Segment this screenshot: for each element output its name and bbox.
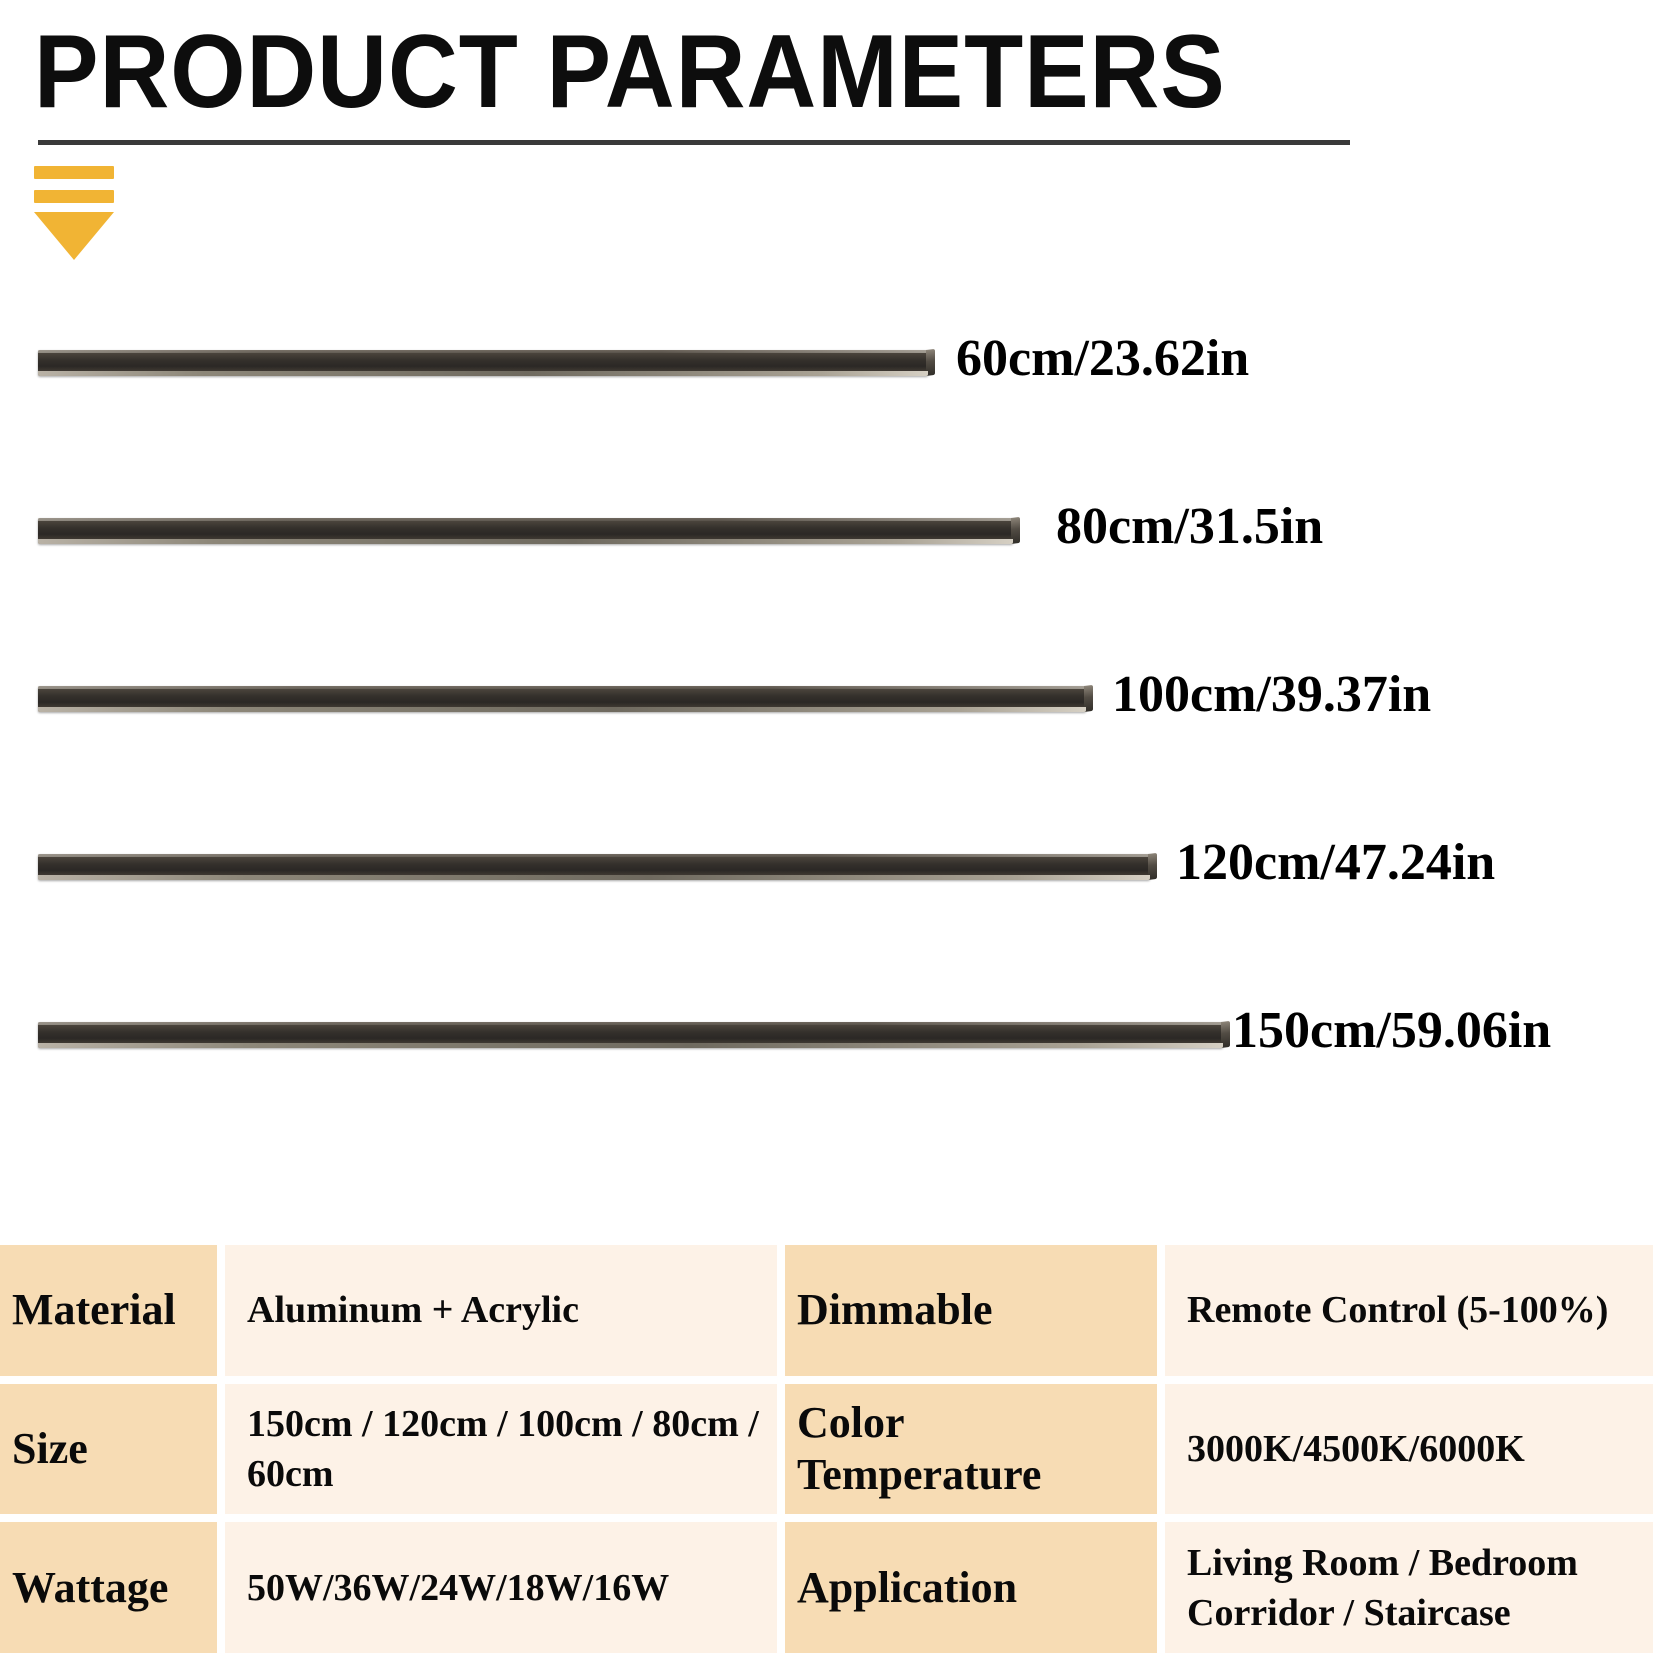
size-comparison-diagram: 60cm/23.62in 80cm/31.5in 100cm/39.37in 1… — [0, 300, 1653, 1230]
spec-value-color-temperature: 3000K/4500K/6000K — [1165, 1384, 1653, 1515]
bar-end-cap — [1221, 1021, 1230, 1048]
down-arrow-icon — [34, 166, 126, 256]
size-label: 150cm/59.06in — [1232, 1000, 1551, 1062]
led-bar-graphic — [38, 518, 1013, 544]
page-header: PRODUCT PARAMETERS — [0, 0, 1653, 290]
size-row: 120cm/47.24in — [0, 804, 1653, 974]
arrow-triangle — [34, 212, 114, 260]
title-divider — [38, 140, 1350, 145]
spec-value-size: 150cm / 120cm / 100cm / 80cm / 60cm — [225, 1384, 777, 1515]
table-row: Size 150cm / 120cm / 100cm / 80cm / 60cm… — [0, 1384, 1653, 1515]
spec-key-wattage: Wattage — [0, 1522, 217, 1653]
led-bar-graphic — [38, 686, 1086, 712]
led-bar-graphic — [38, 1022, 1223, 1048]
spec-value-application-line-1: Living Room / Bedroom — [1187, 1538, 1578, 1588]
spec-key-size: Size — [0, 1384, 217, 1515]
spec-key-material: Material — [0, 1245, 217, 1376]
size-label: 80cm/31.5in — [1056, 496, 1323, 558]
size-row: 100cm/39.37in — [0, 636, 1653, 806]
size-label: 120cm/47.24in — [1176, 832, 1495, 894]
spec-value-wattage: 50W/36W/24W/18W/16W — [225, 1522, 777, 1653]
bar-end-cap — [1011, 517, 1020, 544]
spec-value-application: Living Room / Bedroom Corridor / Stairca… — [1165, 1522, 1653, 1653]
size-label: 60cm/23.62in — [956, 328, 1249, 390]
spec-key-color-temperature: Color Temperature — [785, 1384, 1157, 1515]
led-bar-graphic — [38, 350, 928, 376]
bar-end-cap — [1084, 685, 1093, 712]
arrow-bar-middle — [34, 190, 114, 203]
bar-end-cap — [926, 349, 935, 376]
size-row: 80cm/31.5in — [0, 468, 1653, 638]
spec-key-dimmable: Dimmable — [785, 1245, 1157, 1376]
arrow-bar-top — [34, 166, 114, 179]
bar-end-cap — [1148, 853, 1157, 880]
spec-value-application-line-2: Corridor / Staircase — [1187, 1588, 1511, 1638]
led-bar-graphic — [38, 854, 1150, 880]
specification-table: Material Aluminum + Acrylic Dimmable Rem… — [0, 1245, 1653, 1653]
size-row: 150cm/59.06in — [0, 972, 1653, 1142]
size-row: 60cm/23.62in — [0, 300, 1653, 470]
table-row: Material Aluminum + Acrylic Dimmable Rem… — [0, 1245, 1653, 1376]
spec-value-material: Aluminum + Acrylic — [225, 1245, 777, 1376]
spec-key-application: Application — [785, 1522, 1157, 1653]
spec-value-dimmable: Remote Control (5-100%) — [1165, 1245, 1653, 1376]
table-row: Wattage 50W/36W/24W/18W/16W Application … — [0, 1522, 1653, 1653]
size-label: 100cm/39.37in — [1112, 664, 1431, 726]
page-title: PRODUCT PARAMETERS — [34, 18, 1226, 126]
